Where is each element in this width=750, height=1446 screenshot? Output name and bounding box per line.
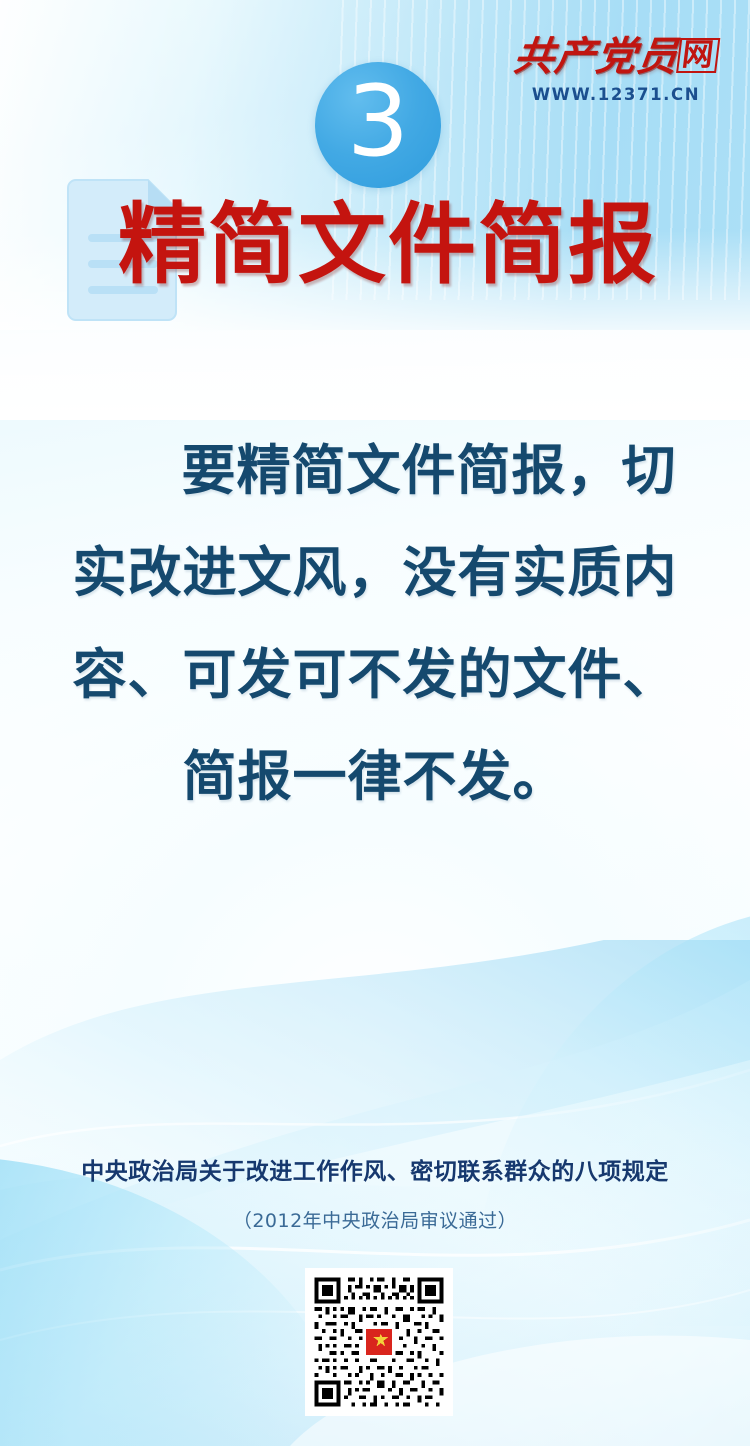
poster-root: 共产党员网 WWW.12371.CN 3 精简文件简报 要精简文件简报，切 实改… xyxy=(0,0,750,1446)
body-line: 要精简文件简报，切 xyxy=(0,420,750,522)
site-logo[interactable]: 共产党员网 WWW.12371.CN xyxy=(510,34,722,104)
body-line: 实改进文风，没有实质内 xyxy=(0,522,750,624)
logo-url: WWW.12371.CN xyxy=(510,85,722,104)
badge-number: 3 xyxy=(347,73,409,171)
logo-wordmark: 共产党员网 xyxy=(507,34,725,80)
regulation-title: 中央政治局关于改进工作作风、密切联系群众的八项规定 xyxy=(0,1152,750,1186)
logo-boxed-char: 网 xyxy=(676,38,720,73)
qr-code[interactable] xyxy=(305,1268,453,1416)
logo-wordmark-text: 共产党员 xyxy=(511,33,681,80)
body-text: 要精简文件简报，切 实改进文风，没有实质内 容、可发可不发的文件、 简报一律不发… xyxy=(0,420,750,828)
number-badge: 3 xyxy=(315,62,441,188)
regulation-subtitle: （2012年中央政治局审议通过） xyxy=(0,1206,750,1233)
body-line: 容、可发可不发的文件、 xyxy=(0,624,750,726)
body-line: 简报一律不发。 xyxy=(0,726,750,828)
party-emblem-icon xyxy=(362,1325,395,1358)
page-title: 精简文件简报 xyxy=(118,196,658,294)
